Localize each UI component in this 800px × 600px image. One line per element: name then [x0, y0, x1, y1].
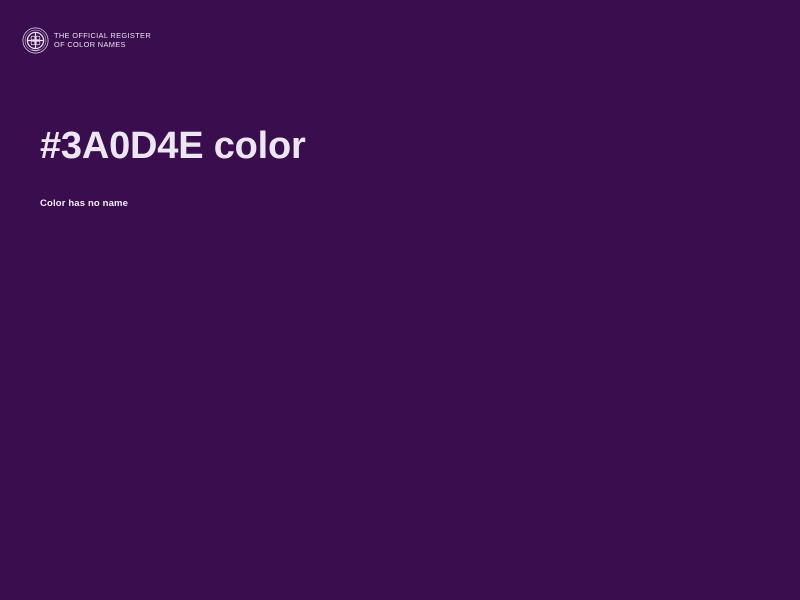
color-name-status: Color has no name	[40, 198, 128, 209]
page-title: #3A0D4E color	[40, 126, 760, 168]
brand-wordmark: THE OFFICIAL REGISTER OF COLOR NAMES	[54, 31, 151, 49]
color-page: THE OFFICIAL REGISTER OF COLOR NAMES #3A…	[0, 0, 800, 600]
brand-line-2: OF COLOR NAMES	[54, 41, 151, 50]
register-seal-icon	[22, 27, 49, 54]
site-brand[interactable]: THE OFFICIAL REGISTER OF COLOR NAMES	[22, 27, 151, 54]
color-info: #3A0D4E color Color has no name	[40, 126, 760, 168]
